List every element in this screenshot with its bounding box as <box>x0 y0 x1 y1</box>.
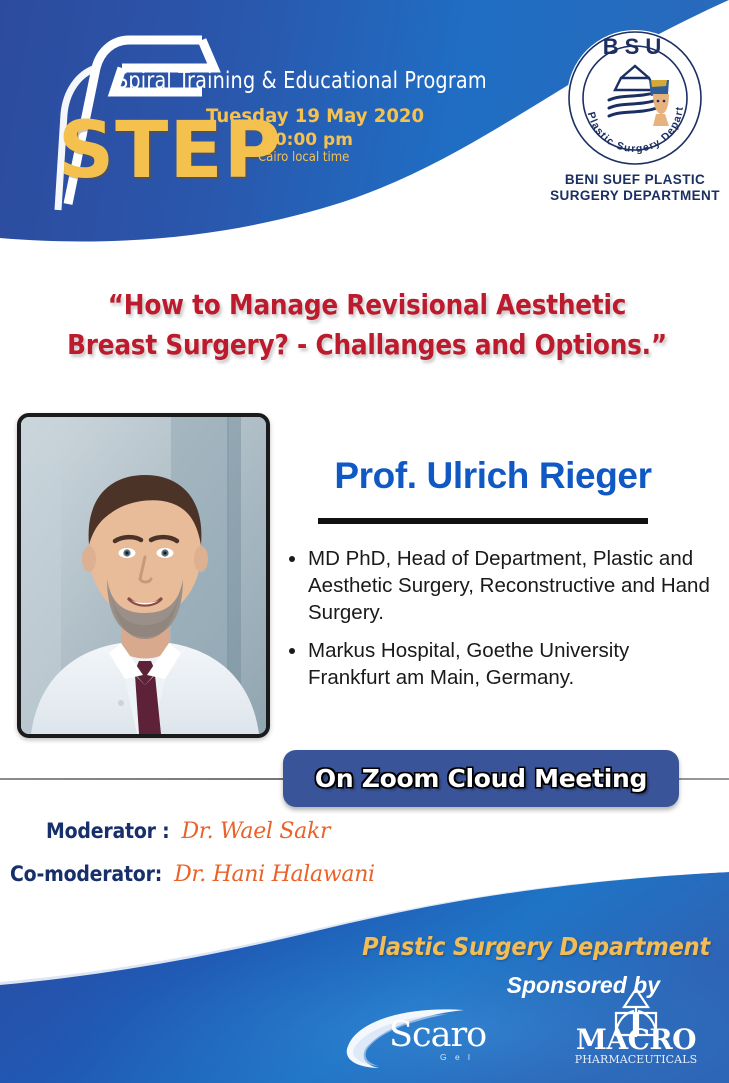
scaro-sponsor-name: Scaro <box>389 1018 486 1053</box>
list-item: Markus Hospital, Goethe University Frank… <box>308 637 716 691</box>
bsu-caption-line1: BENI SUEF PLASTIC <box>565 172 705 187</box>
talk-title: “How to Manage Revisional Aesthetic Brea… <box>22 286 712 366</box>
department-name: Plastic Surgery Department <box>280 932 710 961</box>
event-poster: STEP Spiral Training & Educational Progr… <box>0 0 729 1083</box>
moderator-name: Dr. Wael Sakr <box>181 819 330 844</box>
event-time: 10:00 pm <box>263 130 353 150</box>
speaker-credentials-list: MD PhD, Head of Department, Plastic and … <box>286 545 716 702</box>
speaker-portrait-image <box>21 417 266 734</box>
event-date: Tuesday 19 May 2020 <box>206 105 424 127</box>
bsu-caption-line2: SURGERY DEPARTMENT <box>550 188 720 203</box>
speaker-photo <box>17 413 270 738</box>
event-timezone-note: Cairo local time <box>258 150 349 165</box>
macro-sponsor-tagline: PHARMACEUTICALS <box>566 1054 706 1065</box>
moderator-label: Moderator : <box>46 819 169 843</box>
macro-sponsor-name: MACRO <box>566 1026 706 1054</box>
zoom-meeting-banner[interactable]: On Zoom Cloud Meeting <box>283 750 679 807</box>
moderator-row: Moderator : Dr. Wael Sakr <box>46 819 330 844</box>
svg-text:BSU: BSU <box>603 34 667 59</box>
bsu-logo-icon: BSU Plastic Surgery Department <box>565 28 705 168</box>
program-name: Spiral Training & Educational Program <box>116 68 487 94</box>
zoom-meeting-banner-label: On Zoom Cloud Meeting <box>283 750 679 807</box>
scaro-sponsor-tagline: G e l <box>440 1052 473 1062</box>
list-item: MD PhD, Head of Department, Plastic and … <box>308 545 716 626</box>
speaker-name-underline <box>318 518 648 524</box>
bsu-logo-caption: BENI SUEF PLASTIC SURGERY DEPARTMENT <box>540 172 729 204</box>
speaker-name: Prof. Ulrich Rieger <box>278 455 708 497</box>
talk-title-line1: “How to Manage Revisional Aesthetic <box>108 289 626 321</box>
talk-title-line2: Breast Surgery? - Challanges and Options… <box>67 329 667 361</box>
